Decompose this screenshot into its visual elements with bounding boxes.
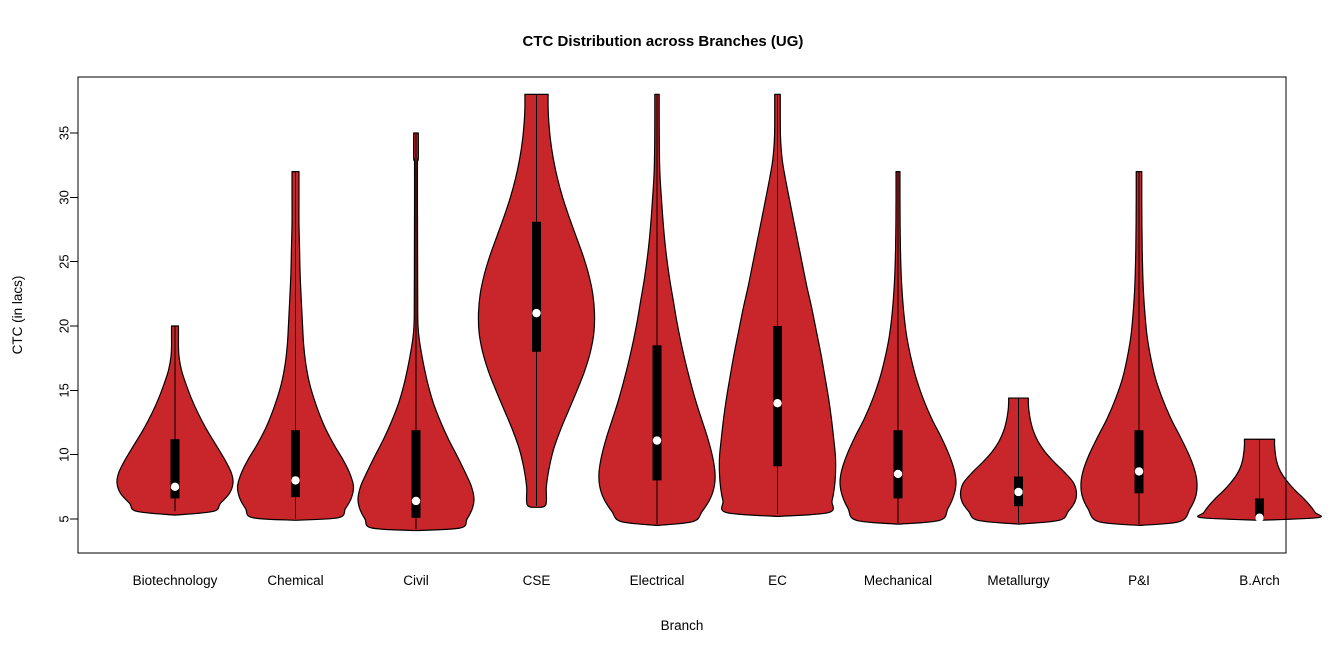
y-tick-label: 30 [57, 190, 72, 204]
y-axis-title: CTC (in lacs) [10, 276, 25, 355]
iqr-box [894, 430, 903, 498]
median-marker [1135, 467, 1143, 475]
median-marker [653, 436, 661, 444]
iqr-box [291, 430, 300, 497]
x-tick-label-ec: EC [768, 573, 787, 588]
y-tick-label: 10 [57, 447, 72, 461]
x-tick-label-mechanical: Mechanical [864, 573, 932, 588]
x-tick-label-chemical: Chemical [267, 573, 323, 588]
violin-plot-figure: CTC Distribution across Branches (UG) 51… [0, 0, 1327, 653]
iqr-box [1135, 430, 1144, 493]
x-tick-label-p-i: P&I [1128, 573, 1150, 588]
iqr-box [773, 326, 782, 466]
x-tick-label-cse: CSE [523, 573, 551, 588]
x-tick-label-electrical: Electrical [630, 573, 685, 588]
median-marker [171, 483, 179, 491]
x-tick-label-civil: Civil [403, 573, 429, 588]
iqr-box [532, 222, 541, 352]
median-marker [773, 399, 781, 407]
x-tick-label-b-arch: B.Arch [1239, 573, 1280, 588]
median-marker [412, 497, 420, 505]
y-tick-label: 35 [57, 126, 72, 140]
x-tick-label-metallurgy: Metallurgy [987, 573, 1050, 588]
y-tick-label: 20 [57, 319, 72, 333]
median-marker [1014, 488, 1022, 496]
x-axis-title: Branch [661, 618, 704, 633]
y-tick-label: 25 [57, 254, 72, 268]
y-tick-label: 5 [57, 515, 72, 522]
median-marker [291, 476, 299, 484]
median-marker [532, 309, 540, 317]
x-tick-label-biotechnology: Biotechnology [133, 573, 218, 588]
median-marker [894, 470, 902, 478]
chart-title: CTC Distribution across Branches (UG) [523, 33, 804, 50]
y-tick-label: 15 [57, 383, 72, 397]
iqr-box [653, 345, 662, 480]
chart-canvas: CTC Distribution across Branches (UG) 51… [0, 0, 1327, 653]
median-marker [1255, 514, 1263, 522]
